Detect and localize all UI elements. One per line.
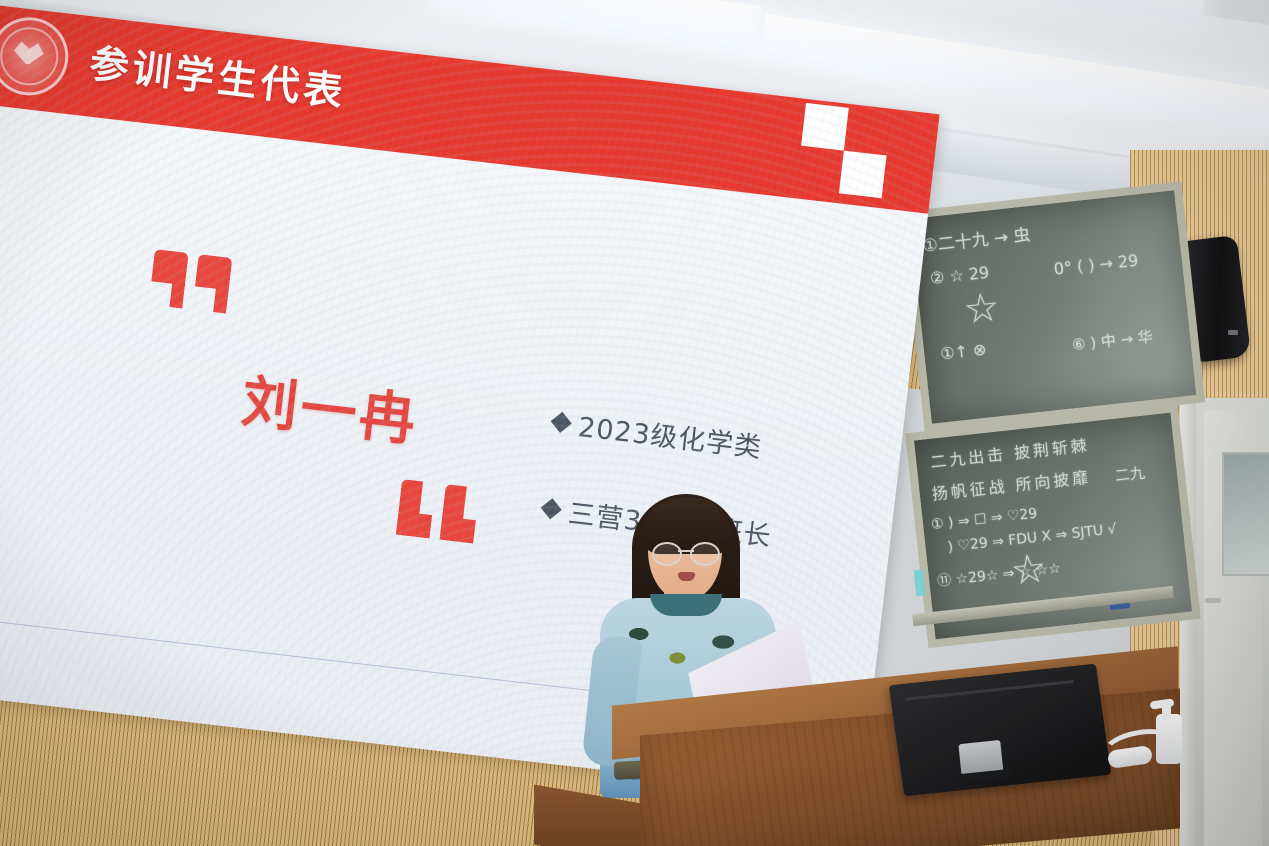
- speaker-logo: [1228, 330, 1238, 335]
- slide-banner-title: 参训学生代表: [87, 33, 350, 118]
- quote-open-icon: [149, 249, 239, 314]
- checkered-corner-motif-icon: [796, 103, 891, 198]
- eyeglasses-icon: [652, 542, 720, 562]
- chalk-line: 二九: [1114, 462, 1146, 486]
- upper-blackboard: ①二十九 → 虫 ② ☆ 29 0° ( ) → 29 ①↑ ⊗ ⑥ ) 中 →…: [901, 181, 1205, 432]
- chalk-line: ①↑ ⊗: [939, 339, 987, 363]
- diamond-bullet-icon: [551, 412, 572, 433]
- chalk-star: ☆: [1008, 545, 1049, 595]
- uniform-collar: [650, 594, 722, 616]
- chalk-star: ☆: [961, 284, 1002, 334]
- chalk-line: 0° ( ) → 29: [1053, 251, 1139, 279]
- list-item-label: 2023级化学类: [576, 405, 764, 465]
- monitor-vent: [905, 680, 1075, 701]
- diamond-bullet-icon: [541, 498, 562, 519]
- door-handle[interactable]: [1205, 598, 1221, 603]
- chalk-line: ① ) ⇒ ☐ ⇒ ♡29: [930, 506, 1038, 533]
- mouth: [678, 572, 695, 581]
- door-window: [1222, 452, 1269, 576]
- chalk-line: ①二十九 → 虫: [921, 220, 1031, 257]
- quote-close-icon: [396, 479, 486, 544]
- slide-speaker-name: 刘一冉: [238, 356, 423, 457]
- chalk-line: ⑥ ) 中 → 华: [1071, 325, 1154, 355]
- sjtu-university-emblem-icon: [0, 13, 72, 99]
- sanitizer-bottle[interactable]: [1156, 714, 1182, 764]
- list-item: 2023级化学类: [552, 402, 784, 467]
- chalk-line: ② ☆ 29: [929, 263, 990, 288]
- lecture-hall-photo: ①二十九 → 虫 ② ☆ 29 0° ( ) → 29 ①↑ ⊗ ⑥ ) 中 →…: [0, 0, 1269, 846]
